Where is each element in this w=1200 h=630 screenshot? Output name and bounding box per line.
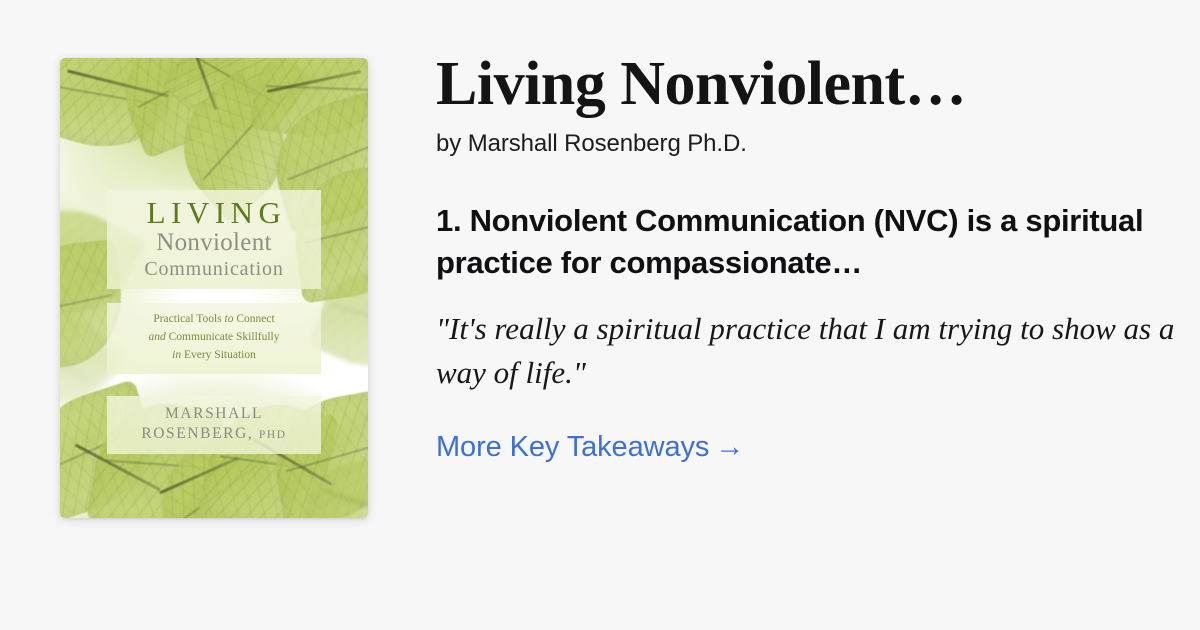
more-key-takeaways-link[interactable]: More Key Takeaways→ [436, 431, 744, 464]
cover-title-communication: Communication [113, 257, 315, 281]
book-title: Living Nonviolent… [436, 52, 1178, 116]
cover-title-panel: LIVING Nonviolent Communication [107, 190, 321, 289]
cover-title-nonviolent: Nonviolent [113, 229, 315, 257]
key-takeaway-heading: 1. Nonviolent Communication (NVC) is a s… [436, 200, 1178, 282]
cover-author-line-1: MARSHALL [111, 404, 317, 424]
cover-subtitle: Practical Tools to Connect and Communica… [107, 303, 321, 373]
book-info-column: Living Nonviolent… by Marshall Rosenberg… [436, 52, 1178, 464]
book-cover-canvas: LIVING Nonviolent Communication Practica… [60, 58, 368, 518]
cover-subtitle-line-1: Practical Tools to Connect [111, 311, 317, 329]
arrow-right-icon: → [715, 431, 744, 463]
cover-author-line-2: ROSENBERG, PHD [111, 424, 317, 444]
more-key-takeaways-label: More Key Takeaways [436, 431, 709, 463]
cover-author: MARSHALL ROSENBERG, PHD [107, 396, 321, 454]
cover-title-living: LIVING [113, 196, 315, 229]
cover-subtitle-line-2: and Communicate Skillfully [111, 329, 317, 347]
cover-text-block: LIVING Nonviolent Communication Practica… [107, 190, 321, 454]
book-byline: by Marshall Rosenberg Ph.D. [436, 130, 1178, 158]
book-takeaway-card: LIVING Nonviolent Communication Practica… [0, 0, 1200, 630]
book-cover-image[interactable]: LIVING Nonviolent Communication Practica… [60, 58, 368, 518]
cover-subtitle-line-3: in Every Situation [111, 347, 317, 365]
takeaway-quote: "It's really a spiritual practice that I… [436, 307, 1178, 395]
